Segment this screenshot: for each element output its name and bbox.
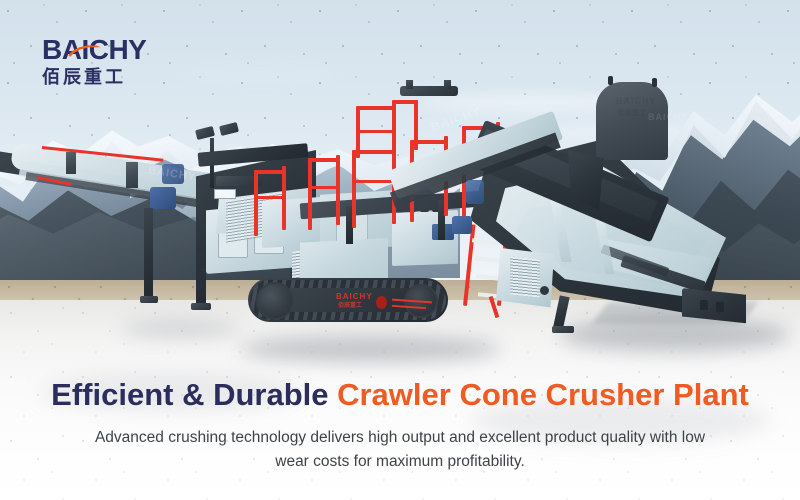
machine-shadow (240, 336, 500, 362)
conveyor-roller-bracket (66, 152, 76, 174)
hydraulic-pump (452, 216, 472, 234)
safety-rail-top (392, 100, 418, 104)
page-subtitle: Advanced crushing technology delivers hi… (78, 426, 722, 474)
safety-rail-post (254, 170, 258, 236)
lifting-eye (652, 78, 657, 87)
brand-watermark: BAICHY (648, 112, 689, 122)
page-title: Efficient & Durable Crawler Cone Crusher… (0, 378, 800, 412)
hydraulic-pump (466, 180, 484, 204)
brand-watermark: BAICHY (616, 96, 657, 106)
safety-rail-post (308, 158, 312, 230)
outrigger-foot (552, 326, 574, 333)
conveyor-roller-bracket (126, 162, 138, 188)
conveyor-support-leg (144, 208, 153, 300)
panel-latch (540, 286, 549, 295)
track-hub-marker (376, 296, 387, 309)
headline-emphasis: Crawler Cone Crusher Plant (337, 377, 749, 412)
brand-watermark-cn: 佰辰重工 (618, 108, 646, 118)
leg-foot-pad (191, 303, 211, 310)
hero-banner: BAICHY (0, 0, 800, 500)
safety-rail-mid (356, 130, 396, 133)
safety-rail-post (352, 150, 356, 228)
safety-rail-top (308, 158, 340, 162)
machine-shadow (120, 320, 240, 338)
lifting-eye (608, 76, 613, 85)
logo[interactable]: BAICHY 佰辰重工 (42, 36, 192, 94)
safety-rail-mid (352, 180, 396, 183)
support-pin-hole (716, 302, 724, 312)
headline-lead: Efficient & Durable (51, 377, 337, 412)
logo-wordmark: BAICHY (42, 36, 192, 64)
safety-rail-mid (308, 186, 340, 189)
leg-foot-pad (140, 296, 158, 303)
logo-chinese-name: 佰辰重工 (42, 69, 192, 87)
support-pin-hole (700, 300, 708, 310)
safety-rail-mid (254, 196, 286, 199)
hydraulic-motor (150, 187, 176, 209)
rail-bracket (406, 80, 413, 89)
safety-rail-post (336, 155, 340, 225)
rail-bracket (444, 80, 451, 89)
track-idler-wheel (256, 282, 294, 320)
side-grille-louvers (510, 256, 540, 297)
track-brand-mark-cn: 佰辰重工 (338, 300, 362, 309)
control-label-plate (214, 189, 236, 199)
safety-rail-top (254, 170, 286, 174)
safety-rail-top (356, 106, 396, 110)
safety-rail-post (414, 100, 418, 150)
